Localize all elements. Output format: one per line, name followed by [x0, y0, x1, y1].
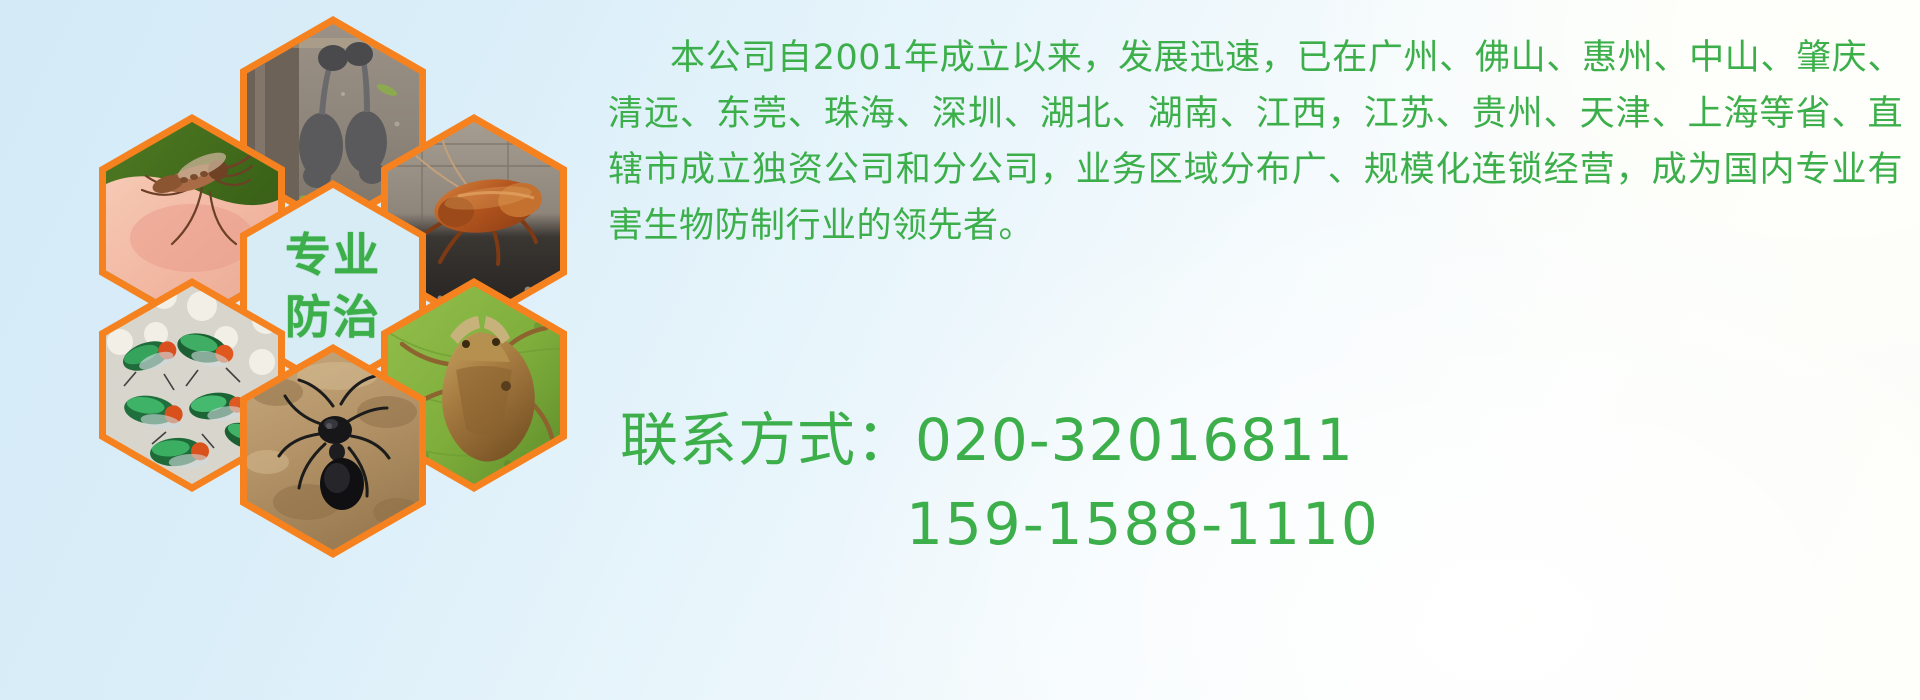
contact-landline-line[interactable]: 联系方式：020-32016811: [620, 398, 1900, 482]
company-description-paragraph: 本公司自2001年成立以来，发展迅速，已在广州、佛山、惠州、中山、肇庆、清远、东…: [608, 30, 1903, 254]
hex-label-line1: 专业: [285, 228, 381, 282]
contact-phone-mobile[interactable]: 159-1588-1110: [906, 490, 1380, 558]
hex-label-text: 专业 防治: [285, 230, 381, 343]
hexagon-photo-cluster: 专业 防治: [88, 6, 568, 566]
pest-control-banner: 专业 防治: [0, 0, 1920, 700]
contact-mobile-line[interactable]: 159-1588-1110: [620, 482, 1900, 566]
contact-block: 联系方式：020-32016811 159-1588-1110: [620, 398, 1900, 566]
contact-label: 联系方式：: [620, 406, 915, 474]
hex-label-line2: 防治: [285, 292, 381, 344]
ant-photo: [247, 352, 419, 550]
contact-phone-landline[interactable]: 020-32016811: [915, 406, 1354, 474]
